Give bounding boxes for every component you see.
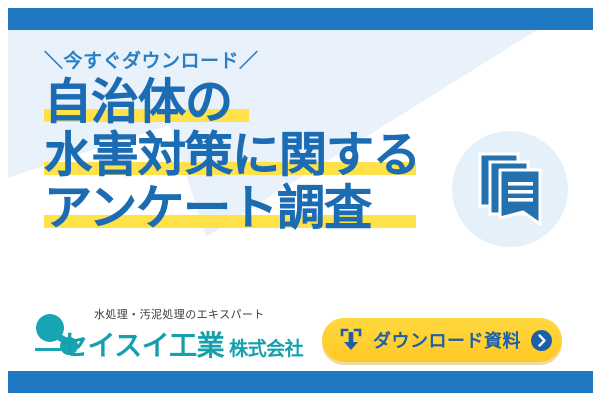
banner-content: ＼今すぐダウンロード／ 自治体の 水害対策に関する アンケート調査 <box>0 0 601 401</box>
headline-line-2: 水害対策に関する <box>44 131 474 179</box>
company-logo: 水処理・汚泥処理のエキスパート セイスイ工業株式会社 <box>30 306 320 368</box>
promo-banner: ＼今すぐダウンロード／ 自治体の 水害対策に関する アンケート調査 <box>0 0 601 401</box>
eyebrow-text: ＼今すぐダウンロード／ <box>44 46 259 73</box>
headline-line-3-text: アンケート調査 <box>44 180 371 236</box>
company-name-main: セイスイ工業 <box>60 329 224 362</box>
download-cta-label: ダウンロード資料 <box>373 327 521 353</box>
documents-stack-icon <box>478 152 546 228</box>
headline-line-3: アンケート調査 <box>44 184 474 232</box>
logo-tagline: 水処理・汚泥処理のエキスパート <box>94 306 265 322</box>
headline: 自治体の 水害対策に関する アンケート調査 <box>44 78 474 237</box>
headline-line-1: 自治体の <box>44 78 474 126</box>
download-icon <box>340 328 362 352</box>
company-name-suffix: 株式会社 <box>229 338 303 360</box>
headline-line-1-text: 自治体の <box>44 74 232 130</box>
headline-line-2-text: 水害対策に関する <box>44 127 420 183</box>
chevron-right-icon <box>531 330 552 351</box>
company-name: セイスイ工業株式会社 <box>60 324 303 364</box>
download-cta-button[interactable]: ダウンロード資料 <box>322 318 562 362</box>
